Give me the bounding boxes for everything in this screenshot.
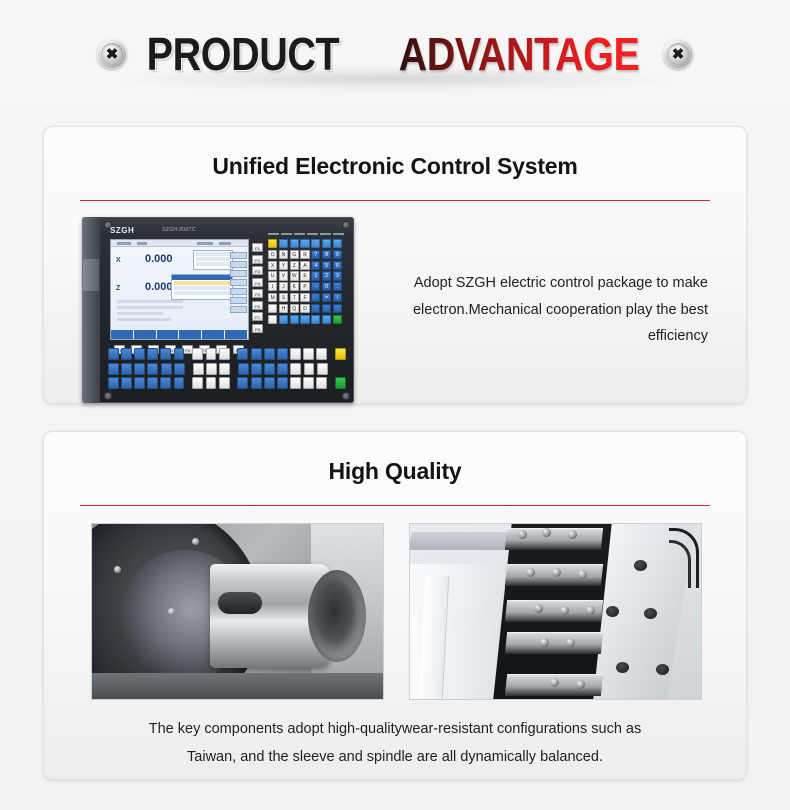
cnc-key-K[interactable]: K	[290, 282, 299, 291]
cnc-function-key-column[interactable]: F1 F2 F3 F4 F5 F6 F7 F8	[252, 243, 263, 335]
cnc-keypad-indicator-strip	[268, 231, 344, 237]
cnc-key-T[interactable]: T	[290, 293, 299, 302]
title-word-advantage: ADVANTAGE	[397, 31, 641, 77]
cnc-op-button[interactable]	[264, 348, 275, 360]
turret-stud-icon	[550, 678, 559, 687]
cnc-key-Q[interactable]: Q	[290, 304, 299, 313]
cnc-op-button[interactable]	[290, 363, 301, 375]
turret-stud-icon	[568, 530, 577, 539]
section-card-unified-electronic-control-system: Unified Electronic Control System SZGH S…	[43, 126, 747, 404]
cnc-op-button[interactable]	[251, 348, 262, 360]
cnc-op-button[interactable]	[304, 363, 315, 375]
cnc-op-button[interactable]	[237, 377, 248, 389]
cnc-model-label: SZGH-800TC	[162, 227, 196, 233]
page-title: ✖ PRODUCT ADVANTAGE ✖	[97, 31, 693, 77]
lcd-axis-z-label: Z	[116, 285, 120, 292]
cnc-key-arrow-left[interactable]	[279, 315, 288, 324]
cnc-lcd-screen: X 0.000 Z 0.000	[110, 239, 249, 340]
cnc-key-input[interactable]	[311, 304, 320, 313]
cnc-control-panel-image: SZGH SZGH-800TC X 0.000 Z	[82, 217, 354, 403]
cnc-op-button[interactable]	[174, 377, 185, 389]
section-body-text-2-line2: Taiwan, and the sleeve and spindle are a…	[84, 744, 706, 772]
turret-stud-icon	[518, 530, 527, 539]
cnc-op-button[interactable]	[237, 348, 248, 360]
cnc-key-P[interactable]: P	[300, 282, 309, 291]
spindle-bolt-icon	[114, 566, 121, 573]
section-title-2: High Quality	[44, 432, 746, 485]
cnc-key-arrow-down[interactable]	[300, 315, 309, 324]
section-title-1: Unified Electronic Control System	[44, 127, 746, 180]
cnc-screw-tr-icon	[342, 221, 350, 229]
machine-base-edge	[92, 673, 383, 699]
cnc-function-key[interactable]: F8	[252, 324, 263, 333]
cnc-key-W[interactable]: W	[290, 271, 299, 280]
turret-stud-icon	[526, 568, 535, 577]
cnc-op-button[interactable]	[277, 348, 288, 360]
cnc-op-button[interactable]	[317, 363, 328, 375]
cnc-key-soft[interactable]	[311, 239, 320, 248]
screw-x-glyph-left: ✖	[97, 39, 127, 69]
cnc-key-cancel[interactable]	[322, 304, 331, 313]
cnc-op-button[interactable]	[251, 363, 262, 375]
cnc-key-0[interactable]: 0	[322, 282, 331, 291]
section-body-text-2-line1: The key components adopt high-qualitywea…	[84, 716, 706, 744]
product-advantage-page: ✖ PRODUCT ADVANTAGE ✖ Unified Electronic…	[0, 0, 790, 810]
cnc-key-8[interactable]: 8	[322, 250, 331, 259]
cnc-key-soft[interactable]	[333, 239, 342, 248]
cnc-key-del[interactable]	[322, 315, 331, 324]
cnc-function-key[interactable]: F3	[252, 266, 263, 275]
cnc-key-slash[interactable]: /	[333, 293, 342, 302]
lcd-coord-z-value: 0.000	[145, 281, 173, 293]
turret-stud-icon	[586, 606, 595, 615]
cnc-op-button[interactable]	[303, 377, 314, 389]
cnc-key-minus[interactable]: -	[311, 282, 320, 291]
cnc-key-symbol[interactable]	[311, 293, 320, 302]
turret-stud-icon	[560, 606, 569, 615]
screw-x-icon-left: ✖	[97, 39, 127, 69]
turret-table-hole	[644, 608, 657, 619]
cnc-panel-face: SZGH SZGH-800TC X 0.000 Z	[100, 217, 354, 403]
cnc-start-button[interactable]	[335, 377, 346, 389]
turret-table-hole	[634, 560, 647, 571]
cnc-function-key[interactable]: F2	[252, 255, 263, 264]
cnc-op-button[interactable]	[160, 348, 171, 360]
cnc-op-button[interactable]	[206, 363, 217, 375]
cnc-function-key[interactable]: F7	[252, 312, 263, 321]
cnc-key-4[interactable]: 4	[311, 261, 320, 270]
lcd-parameter-list	[117, 300, 183, 324]
spindle-keyway	[218, 592, 262, 614]
cnc-op-button[interactable]	[121, 377, 132, 389]
turret-stud-icon	[542, 528, 551, 537]
cnc-op-button[interactable]	[264, 363, 275, 375]
cnc-keypad-row[interactable]: M S T F = /	[268, 293, 344, 302]
tool-turret-photo	[409, 523, 702, 700]
lcd-axis-x-label: X	[116, 257, 121, 264]
cnc-key-3[interactable]: 3	[333, 271, 342, 280]
cnc-key-soft[interactable]	[300, 239, 309, 248]
spindle-bolt-icon	[168, 608, 175, 615]
cnc-key-decimal[interactable]: .	[333, 282, 342, 291]
cnc-function-key[interactable]: F4	[252, 278, 263, 287]
cnc-key-equals[interactable]: =	[322, 293, 331, 302]
cnc-key-start[interactable]	[333, 315, 342, 324]
cnc-op-button[interactable]	[147, 377, 158, 389]
cnc-key-soft[interactable]	[279, 239, 288, 248]
cnc-op-button[interactable]	[108, 348, 119, 360]
cnc-key-R[interactable]: R	[300, 250, 309, 259]
cnc-key-H[interactable]: H	[279, 304, 288, 313]
cnc-op-spacer	[336, 363, 346, 375]
cnc-keypad-row[interactable]: X Y Z A 4 5 6	[268, 261, 344, 270]
lcd-soft-key-column	[230, 252, 247, 328]
cnc-op-button[interactable]	[192, 348, 203, 360]
cnc-key-9[interactable]: 9	[333, 250, 342, 259]
cnc-key-A[interactable]: A	[300, 261, 309, 270]
turret-table-hole	[616, 662, 629, 673]
lcd-status-bar	[111, 240, 248, 247]
cnc-op-button[interactable]	[192, 377, 203, 389]
cnc-op-button[interactable]	[316, 348, 327, 360]
turret-stud-icon	[552, 568, 561, 577]
cnc-op-button[interactable]	[134, 363, 145, 375]
cnc-screw-bl-icon	[104, 392, 112, 400]
cnc-panel-side-tab	[83, 259, 99, 291]
cnc-op-button[interactable]	[206, 377, 217, 389]
title-word-product: PRODUCT	[145, 31, 341, 77]
cnc-op-button[interactable]	[290, 348, 301, 360]
cnc-key-Y[interactable]: Y	[279, 261, 288, 270]
screw-x-icon-right: ✖	[663, 39, 693, 69]
cnc-key-Z[interactable]: Z	[290, 261, 299, 270]
cnc-op-button[interactable]	[174, 348, 185, 360]
cnc-op-button[interactable]	[147, 363, 158, 375]
turret-stud-icon	[534, 604, 543, 613]
cnc-key-6[interactable]: 6	[333, 261, 342, 270]
cnc-key-arrow-up[interactable]	[290, 315, 299, 324]
cnc-op-button[interactable]	[108, 377, 119, 389]
cnc-keypad-row[interactable]: H Q D	[268, 304, 344, 313]
turret-rail	[409, 532, 512, 550]
cnc-key-1[interactable]: 1	[311, 271, 320, 280]
cnc-key-E[interactable]: E	[300, 271, 309, 280]
cnc-op-button[interactable]	[134, 348, 145, 360]
cnc-key-2[interactable]: 2	[322, 271, 331, 280]
cnc-operation-row[interactable]	[108, 377, 346, 389]
cnc-function-key[interactable]: F1	[252, 243, 263, 252]
cnc-op-button[interactable]	[264, 377, 275, 389]
cnc-op-button[interactable]	[121, 363, 132, 375]
cnc-key-J[interactable]: J	[279, 282, 288, 291]
section-body-1: SZGH SZGH-800TC X 0.000 Z	[44, 201, 746, 403]
cnc-operation-row[interactable]	[108, 348, 346, 360]
cnc-key-arrow-right[interactable]	[311, 315, 320, 324]
cnc-op-button[interactable]	[219, 363, 230, 375]
section-body-text-1: Adopt SZGH electric control package to m…	[354, 270, 716, 350]
section-card-high-quality: High Quality	[43, 431, 747, 780]
cnc-key-soft[interactable]	[290, 239, 299, 248]
cnc-keypad-top-row[interactable]	[268, 239, 344, 248]
page-header: ✖ PRODUCT ADVANTAGE ✖	[0, 0, 790, 108]
spindle-bolt-icon	[192, 538, 199, 545]
cnc-keypad-row[interactable]: I J K P - 0 .	[268, 282, 344, 291]
cnc-key-U[interactable]: U	[268, 271, 277, 280]
cnc-key-reset[interactable]	[268, 239, 277, 248]
cnc-keypad-bottom-row[interactable]	[268, 315, 344, 324]
cnc-key-X[interactable]: X	[268, 261, 277, 270]
cnc-function-key[interactable]: F6	[252, 301, 263, 310]
cnc-op-button[interactable]	[238, 363, 249, 375]
cnc-key-soft[interactable]	[322, 239, 331, 248]
lcd-program-panel	[171, 274, 233, 300]
turret-stud-icon	[566, 638, 575, 647]
turret-stud-icon	[576, 680, 585, 689]
cnc-op-button[interactable]	[206, 348, 217, 360]
cnc-key-7[interactable]: 7	[311, 250, 320, 259]
cnc-key-S[interactable]: S	[279, 293, 288, 302]
cnc-key-N[interactable]: N	[279, 250, 288, 259]
cnc-key-I[interactable]: I	[268, 282, 277, 291]
cnc-op-button[interactable]	[219, 377, 230, 389]
turret-stud-icon	[578, 570, 587, 579]
cnc-screw-br-icon	[342, 392, 350, 400]
cnc-keypad[interactable]: O N G R 7 8 9 X Y Z A	[268, 239, 344, 325]
cnc-key-M[interactable]: M	[268, 293, 277, 302]
cnc-op-button[interactable]	[303, 348, 314, 360]
cnc-key-shift[interactable]	[268, 304, 277, 313]
screw-x-glyph-right: ✖	[663, 39, 693, 69]
cnc-key-F[interactable]: F	[300, 293, 309, 302]
lcd-readout-panel	[193, 250, 233, 270]
cnc-emergency-button[interactable]	[335, 348, 346, 360]
cnc-function-key[interactable]: F5	[252, 289, 263, 298]
cnc-operation-row[interactable]	[108, 363, 346, 375]
cnc-op-button[interactable]	[277, 377, 288, 389]
cnc-key-enter[interactable]	[333, 304, 342, 313]
cnc-key-D[interactable]: D	[300, 304, 309, 313]
spindle-chuck-photo	[91, 523, 384, 700]
section-body-text-2: The key components adopt high-qualitywea…	[44, 700, 746, 771]
cnc-op-button[interactable]	[193, 363, 204, 375]
turret-table-hole	[656, 664, 669, 675]
cnc-keypad-row[interactable]: U V W E 1 2 3	[268, 271, 344, 280]
cnc-op-button[interactable]	[277, 363, 288, 375]
cnc-op-button[interactable]	[174, 363, 185, 375]
turret-table-hole	[606, 606, 619, 617]
cnc-op-button[interactable]	[108, 363, 119, 375]
lcd-coord-x-value: 0.000	[145, 253, 173, 265]
turret-tool-block	[504, 632, 602, 654]
cnc-panel-left-bracket	[82, 217, 100, 403]
cnc-op-button[interactable]	[147, 348, 158, 360]
cnc-op-button[interactable]	[251, 377, 262, 389]
cnc-key-V[interactable]: V	[279, 271, 288, 280]
cnc-keypad-row[interactable]: O N G R 7 8 9	[268, 250, 344, 259]
lcd-menu-bar	[111, 330, 248, 339]
cnc-op-button[interactable]	[160, 377, 171, 389]
cnc-op-button[interactable]	[316, 377, 327, 389]
turret-stud-icon	[540, 638, 549, 647]
cnc-key-O[interactable]: O	[268, 250, 277, 259]
cnc-op-button[interactable]	[290, 377, 301, 389]
cnc-key-page[interactable]	[268, 315, 277, 324]
cnc-op-button[interactable]	[121, 348, 132, 360]
cnc-key-G[interactable]: G	[290, 250, 299, 259]
cnc-operation-buttons[interactable]	[108, 348, 346, 391]
cnc-key-5[interactable]: 5	[322, 261, 331, 270]
cnc-op-button[interactable]	[134, 377, 145, 389]
cnc-op-button[interactable]	[219, 348, 230, 360]
cnc-brand-logo: SZGH	[110, 226, 134, 235]
spindle-bore	[308, 570, 366, 662]
section-photos-2	[44, 506, 746, 700]
cnc-op-button[interactable]	[161, 363, 172, 375]
